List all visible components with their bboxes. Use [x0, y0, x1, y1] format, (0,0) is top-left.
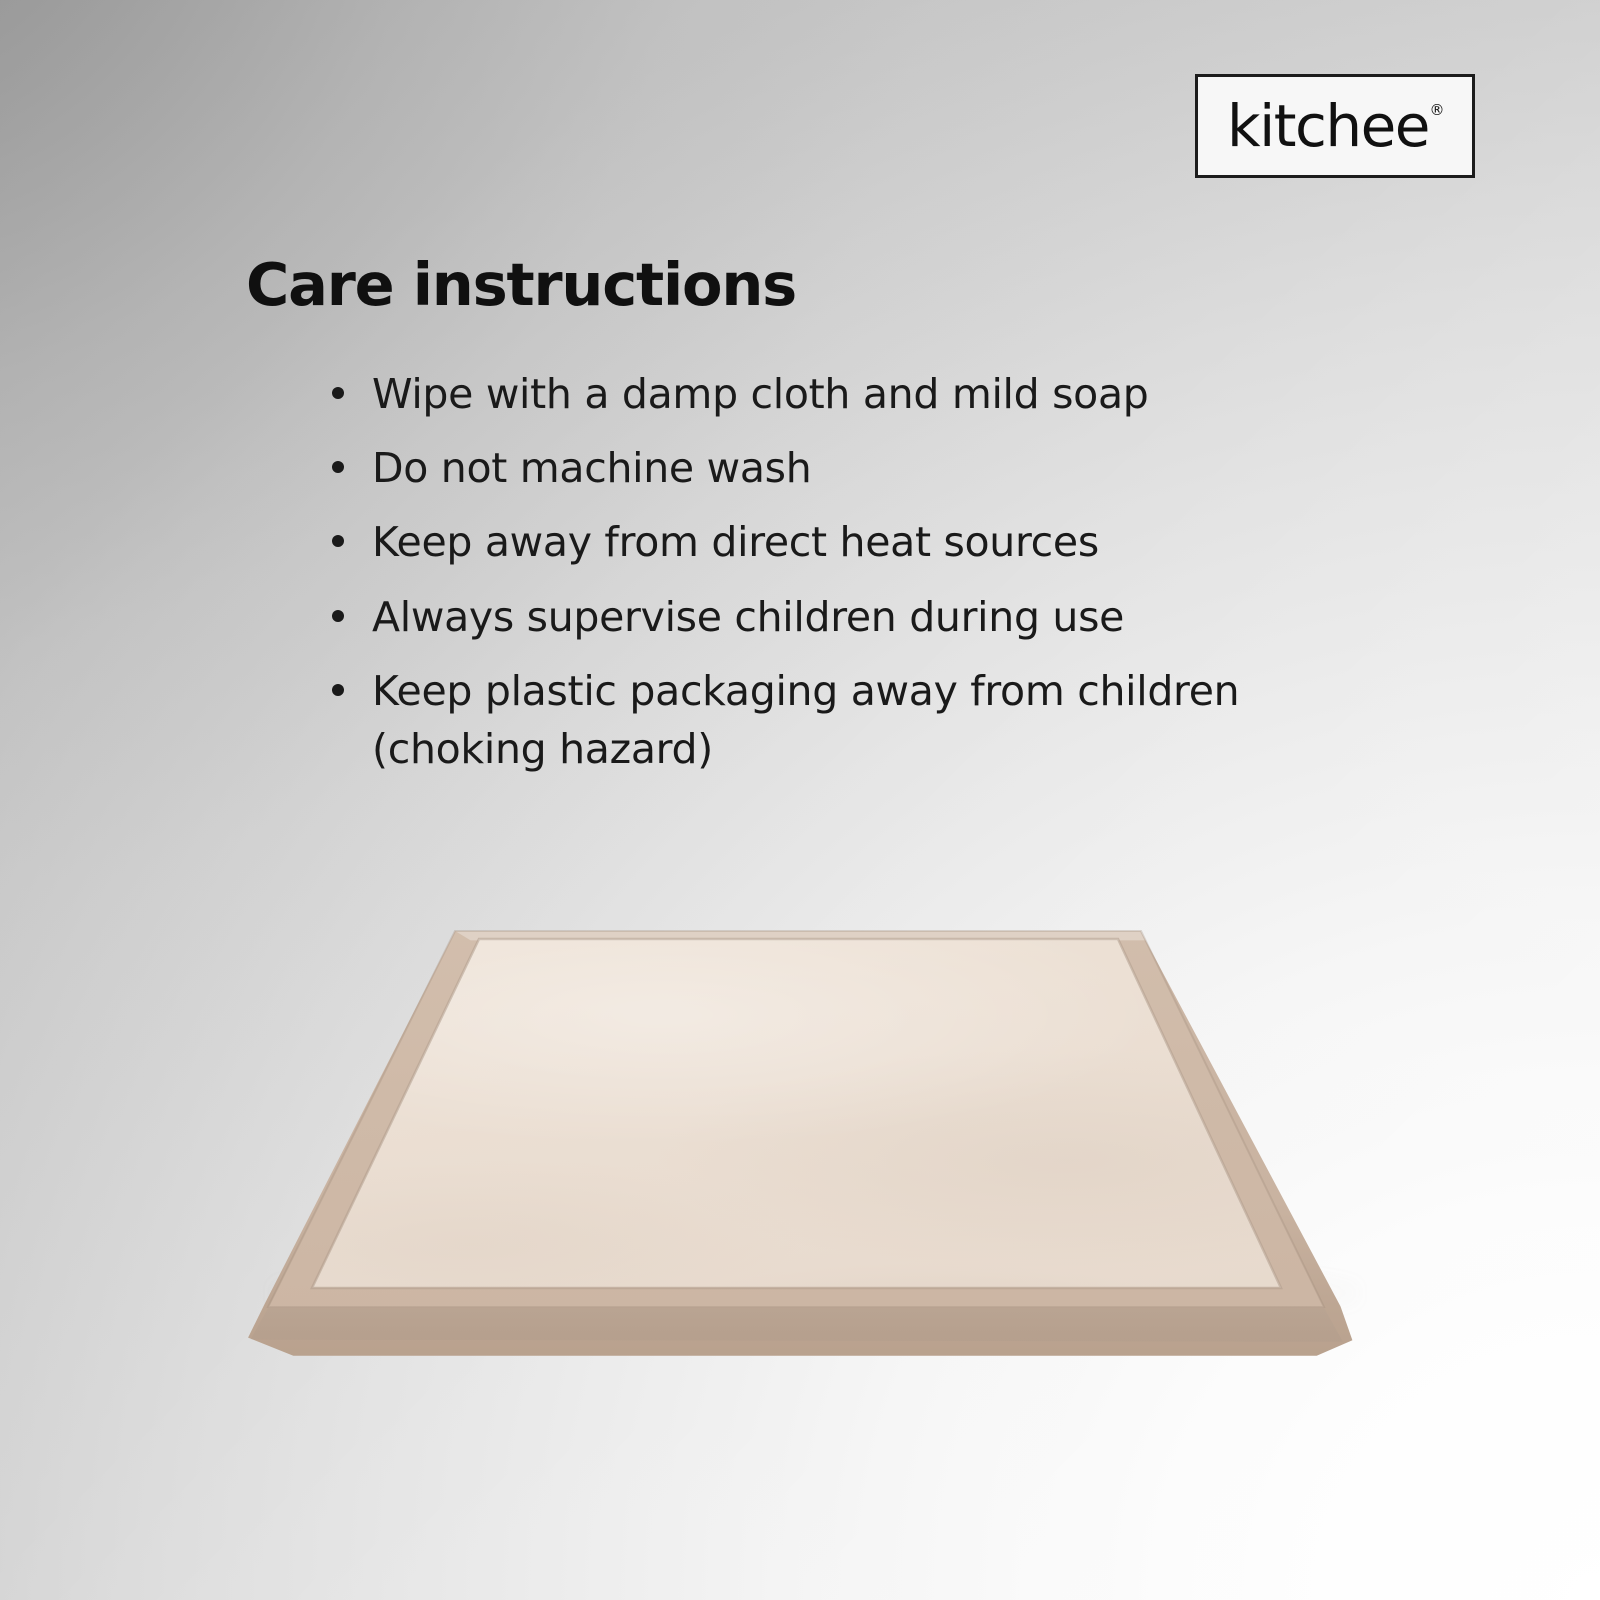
- list-item: Do not machine wash: [330, 439, 1410, 497]
- registered-trademark-icon: ®: [1429, 103, 1443, 118]
- bullet-icon: [332, 461, 344, 473]
- care-instructions-page: kitchee® Care instructions Wipe with a d…: [0, 0, 1600, 1600]
- list-item: Keep away from direct heat sources: [330, 513, 1410, 571]
- list-item-label: Wipe with a damp cloth and mild soap: [372, 370, 1149, 418]
- bullet-icon: [332, 387, 344, 399]
- bullet-icon: [332, 535, 344, 547]
- list-item-label: Do not machine wash: [372, 444, 811, 492]
- list-item-label: Always supervise children during use: [372, 593, 1124, 641]
- brand-logo: kitchee®: [1195, 74, 1475, 178]
- bullet-icon: [332, 610, 344, 622]
- care-instructions-list: Wipe with a damp cloth and mild soap Do …: [330, 365, 1410, 794]
- product-image: [210, 880, 1400, 1400]
- list-item-label: Keep away from direct heat sources: [372, 518, 1099, 566]
- list-item: Always supervise children during use: [330, 588, 1410, 646]
- bullet-icon: [332, 684, 344, 696]
- list-item: Keep plastic packaging away from childre…: [330, 662, 1410, 778]
- list-item: Wipe with a damp cloth and mild soap: [330, 365, 1410, 423]
- page-title: Care instructions: [246, 253, 796, 317]
- brand-logo-wordmark: kitchee: [1227, 92, 1429, 160]
- list-item-label: Keep plastic packaging away from childre…: [372, 667, 1239, 773]
- brand-logo-text: kitchee®: [1227, 97, 1443, 155]
